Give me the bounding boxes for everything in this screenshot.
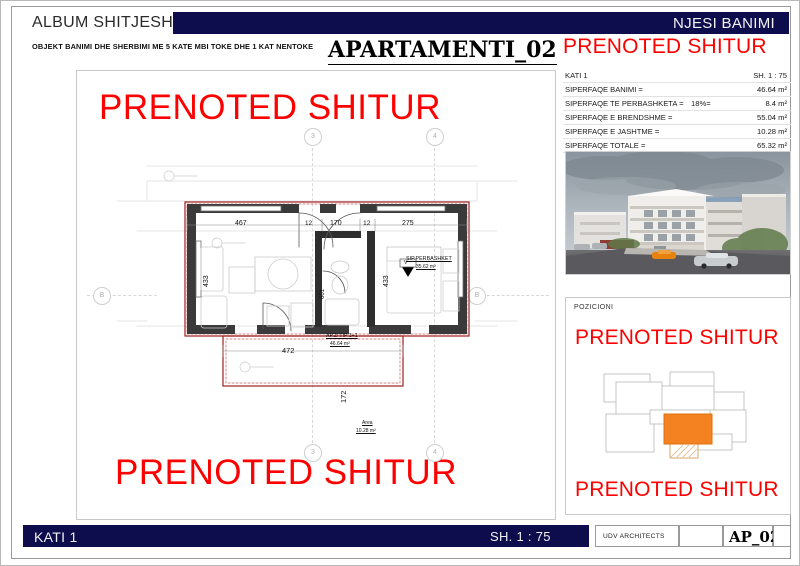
specification-table: KATI 1 SH. 1 : 75 SIPERFAQE BANIMI = 46.…	[563, 69, 791, 153]
footer-scale-label: SH. 1 : 75	[490, 529, 551, 544]
album-title: ALBUM SHITJESH	[32, 14, 173, 32]
spec-row-label: SIPERFAQE TE PERBASHKETA =	[565, 97, 684, 111]
apartment-label: AP.2/ TIP 1+1	[326, 333, 358, 339]
dimension-top-12a: 12	[305, 220, 312, 227]
spec-row-label: SIPERFAQE E JASHTME =	[565, 125, 659, 139]
spec-row-value: 46.64 m²	[757, 83, 787, 97]
position-stamp-top: PRENOTED SHITUR	[575, 326, 779, 350]
position-panel: POZICIONI PRENOTED SHITUR PRENOTED SHITU…	[565, 297, 791, 515]
dimension-right-433: 433	[383, 275, 390, 287]
spec-scale-label: SH. 1 : 75	[753, 69, 787, 83]
dimension-left-433: 433	[203, 275, 210, 287]
spec-row-value: 10.28 m²	[757, 125, 787, 139]
drawing-sheet: ALBUM SHITJESH NJESI BANIMI OBJEKT BANIM…	[0, 0, 800, 566]
common-area-label: SIP.PERBASHKET	[406, 256, 452, 262]
floor-plan-drawing	[77, 71, 555, 519]
position-stamp-bottom: PRENOTED SHITUR	[575, 478, 779, 502]
dimension-top-275: 275	[402, 220, 414, 227]
footer-blank-cell-1	[679, 525, 723, 547]
common-area-value: 35.62 m²	[416, 264, 436, 270]
dimension-bottom-472: 472	[282, 346, 294, 355]
table-row: SIPERFAQE E BRENDSHME = 55.04 m²	[563, 111, 791, 125]
spec-floor-label: KATI 1	[565, 69, 588, 83]
footer-blank-cell-2	[773, 525, 791, 547]
rendering-image	[566, 152, 790, 274]
balcony-area: 10.28 m²	[356, 428, 376, 434]
dimension-top-12b: 12	[363, 220, 371, 227]
page-title: APARTAMENTI_02	[328, 37, 557, 65]
dimension-top-170: 170	[330, 220, 342, 227]
spec-row-value: 8.4 m²	[765, 97, 787, 111]
table-row: SIPERFAQE BANIMI = 46.64 m²	[563, 83, 791, 97]
spec-row-label: SIPERFAQE E BRENDSHME =	[565, 111, 672, 125]
unit-type-label: NJESI BANIMI	[673, 15, 775, 32]
dimension-inner-601: 601	[320, 289, 326, 299]
floor-plan-panel: PRENOTED SHITUR PRENOTED SHITUR 3 4 3 4 …	[76, 70, 556, 520]
highlighted-unit	[664, 414, 712, 444]
spec-row-mid: 18%=	[691, 97, 711, 111]
footer-floor-label: KATI 1	[34, 529, 78, 545]
position-label: POZICIONI	[574, 304, 613, 311]
table-row: SIPERFAQE E JASHTME = 10.28 m²	[563, 125, 791, 139]
north-marker-label: V	[404, 260, 407, 266]
footer-architects-label: UDV ARCHITECTS	[603, 533, 665, 540]
info-column: PRENOTED SHITUR KATI 1 SH. 1 : 75 SIPERF…	[563, 35, 791, 518]
spec-row-label: SIPERFAQE BANIMI =	[565, 83, 643, 97]
dimension-bottom-172: 172	[339, 391, 348, 403]
dimension-top-467: 467	[235, 220, 247, 227]
apartment-area: 46.64 m²	[330, 341, 350, 347]
balcony-label: Area	[362, 420, 373, 426]
spec-header-row: KATI 1 SH. 1 : 75	[563, 69, 791, 83]
building-rendering	[565, 151, 791, 275]
key-plan-diagram	[592, 370, 764, 462]
project-subtitle: OBJEKT BANIMI DHE SHERBIMI ME 5 KATE MBI…	[32, 42, 313, 51]
spec-row-value: 55.04 m²	[757, 111, 787, 125]
spec-status-stamp: PRENOTED SHITUR	[563, 35, 767, 59]
table-row: SIPERFAQE TE PERBASHKETA = 18%= 8.4 m²	[563, 97, 791, 111]
